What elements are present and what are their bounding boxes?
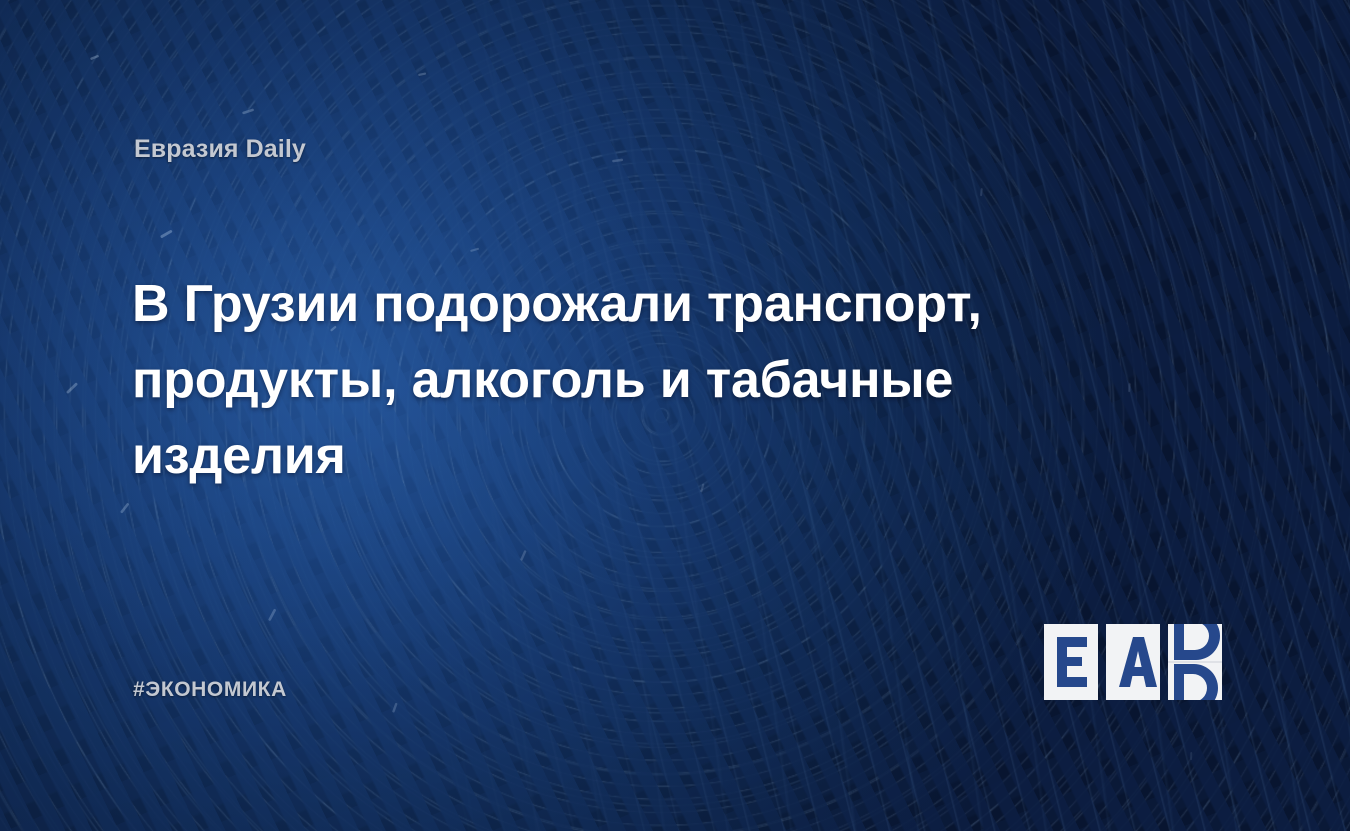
headline-line-1: В Грузии подорожали транспорт,: [132, 266, 1062, 342]
headline-line-2: продукты, алкоголь и табачные: [132, 342, 1062, 418]
ead-logo: [1044, 624, 1224, 700]
headline-line-3: изделия: [132, 418, 1062, 494]
page-title: В Грузии подорожали транспорт, продукты,…: [132, 266, 1062, 494]
brand-title: Евразия Daily: [134, 135, 306, 164]
share-card: Евразия Daily В Грузии подорожали трансп…: [0, 0, 1350, 831]
category-tag: #ЭКОНОМИКА: [133, 678, 287, 702]
